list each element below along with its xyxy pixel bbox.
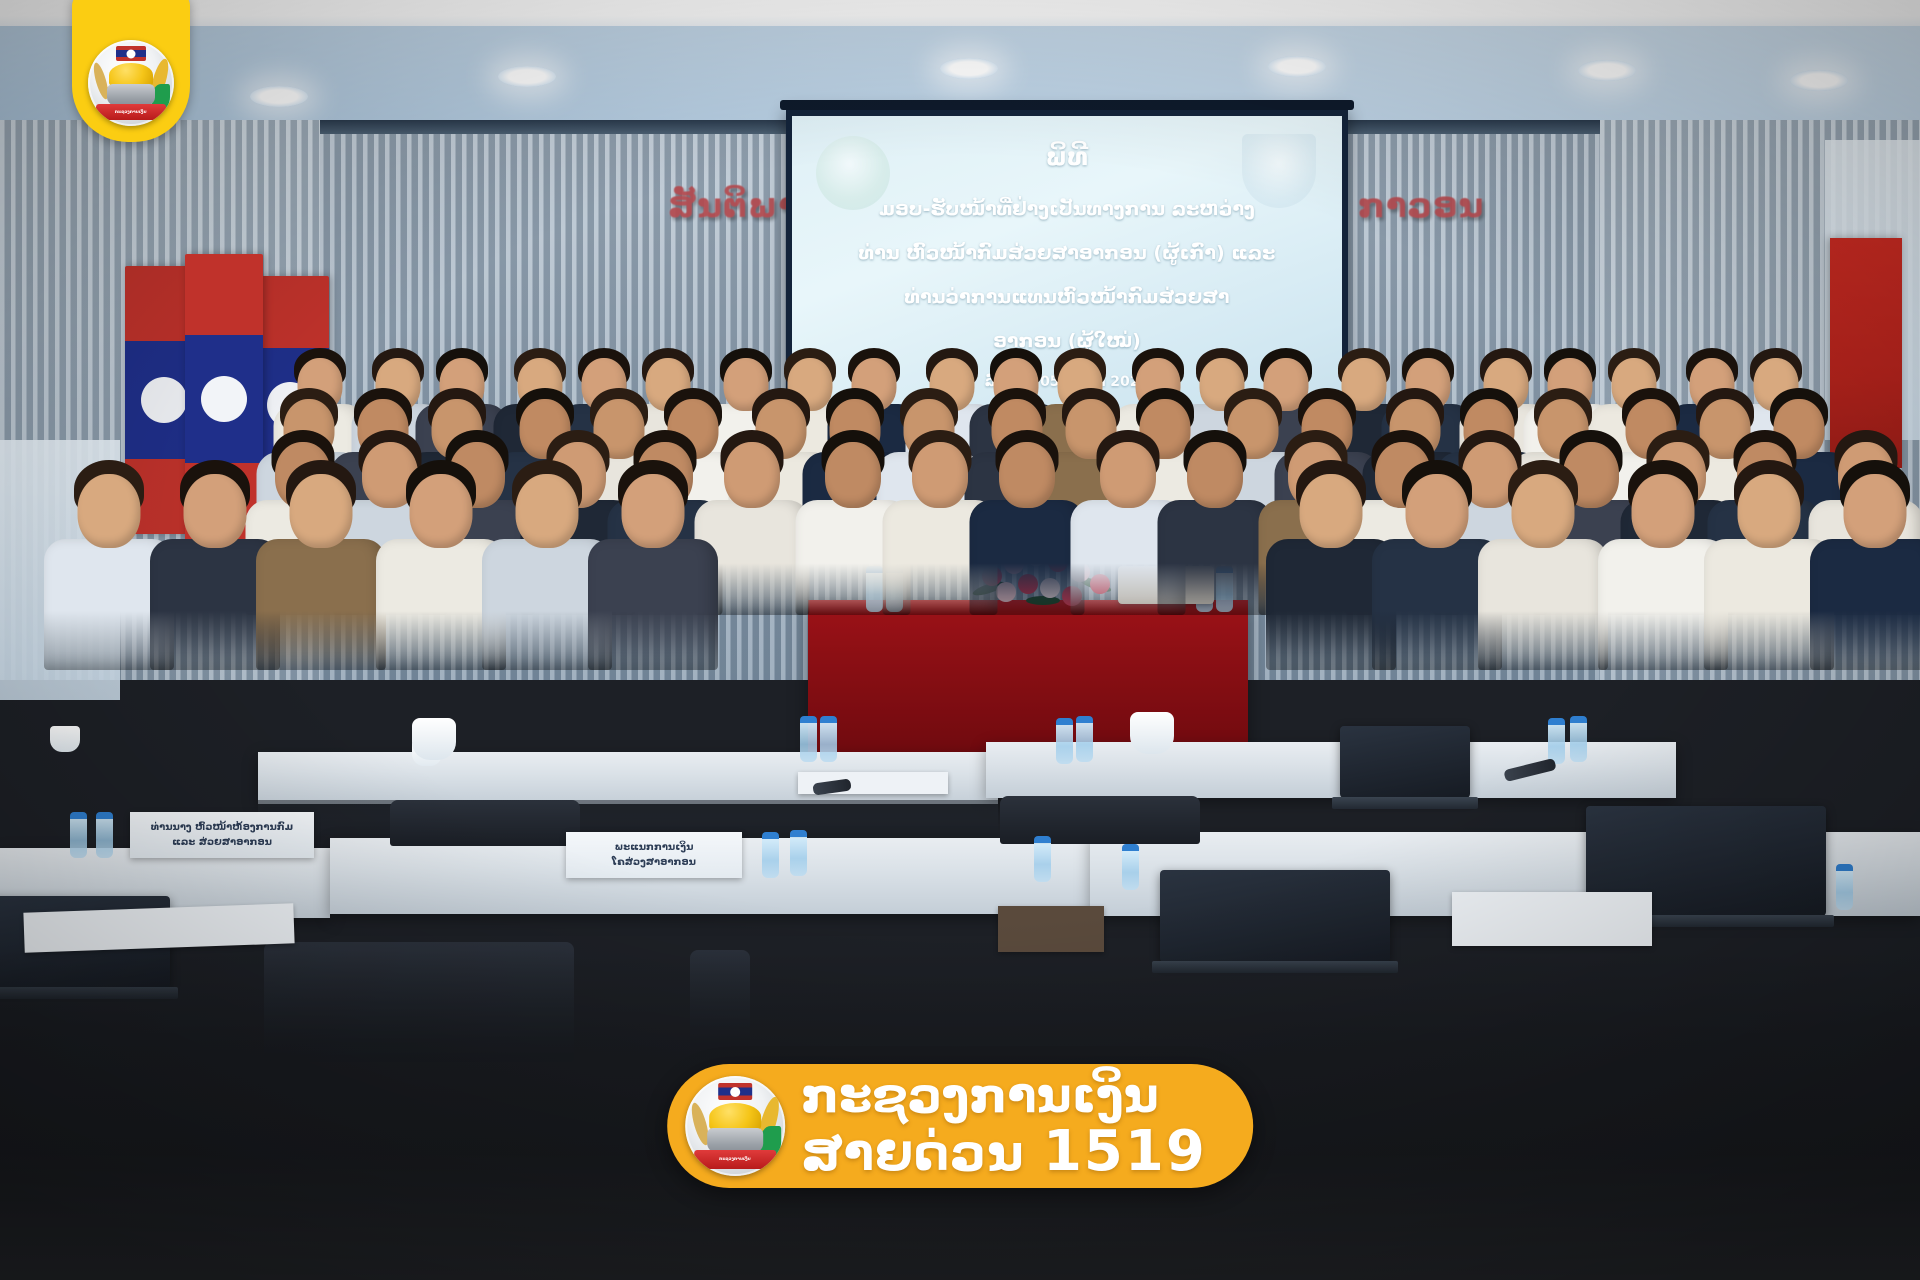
- attendee-head: [1512, 474, 1575, 548]
- office-chair: [1000, 796, 1200, 844]
- teapot: [1130, 712, 1174, 754]
- attendee: [1157, 430, 1272, 615]
- attendee-head: [1100, 442, 1156, 508]
- head-table-red-cloth: [808, 600, 1248, 758]
- table-name-card: ທ່ານນາງ ຫົວໜ້າຫ້ອງການກົມ ແລະ ສ່ວຍສາອາກອນ: [130, 812, 314, 858]
- slide-line-3: ທ່ານວ່າການແທນຫົວໜ້າກົມສ່ວຍສາ: [792, 286, 1342, 308]
- attendee-head: [1632, 474, 1695, 548]
- ceiling-downlight: [940, 58, 998, 79]
- attendee: [1810, 460, 1920, 670]
- ceiling-downlight: [498, 66, 556, 87]
- attendee-torso: [588, 539, 718, 670]
- table-name-card: ພະແນກການເງິນ ໂຄສ່ວງສາອາກອນ: [566, 832, 742, 878]
- water-bottle: [1548, 718, 1565, 764]
- laptop-device: [1160, 870, 1390, 962]
- water-bottle: [762, 832, 779, 878]
- ceiling-downlight: [1268, 56, 1326, 77]
- attendee-head: [825, 442, 881, 508]
- water-bottle: [790, 830, 807, 876]
- tea-cup: [50, 726, 80, 752]
- water-bottle: [1034, 836, 1051, 882]
- attendee: [1478, 460, 1608, 670]
- ceiling-downlight: [250, 86, 308, 107]
- slide-title: ພິທີ: [792, 142, 1342, 171]
- name-card-line-2: ແລະ ສ່ວຍສາອາກອນ: [172, 835, 272, 850]
- attendee-head: [622, 474, 685, 548]
- attendee-head: [724, 442, 780, 508]
- wall-text-right: ກາວອນ: [1358, 186, 1484, 226]
- water-bottle: [1076, 716, 1093, 762]
- office-chair: [390, 800, 580, 846]
- attendee-head: [912, 442, 968, 508]
- attendee-head: [78, 474, 141, 548]
- emblem-ribbon-text: ກະຊວງການເງິນ: [719, 1157, 751, 1161]
- attendee-head: [184, 474, 247, 548]
- banner-emblem-wrap: ກະຊວງການເງິນ: [685, 1076, 785, 1176]
- name-card-line-1: ພະແນກການເງິນ: [615, 840, 694, 855]
- ministry-of-finance-emblem-icon: ກະຊວງການເງິນ: [685, 1076, 785, 1176]
- ministry-of-finance-emblem-icon: ກະຊວງການເງິນ: [88, 40, 174, 126]
- graphic-canvas: ສັນຕິພາບ ກາວອນ ພິທີ ມອບ-ຮັບໜ້າທີ່ຢ່າງເປັ…: [0, 0, 1920, 1280]
- slide-line-1: ມອບ-ຮັບໜ້າທີ່ຢ່າງເປັນທາງການ ລະຫວ່າງ: [792, 198, 1342, 220]
- attendee-head: [1300, 474, 1363, 548]
- hotline-organization-label: ກະຊວງການເງິນ: [801, 1071, 1207, 1122]
- desk-front-panel: [258, 800, 998, 836]
- water-bottle: [800, 716, 817, 762]
- teapot: [412, 718, 456, 760]
- ceiling-downlight: [1578, 60, 1636, 81]
- attendee: [588, 460, 718, 670]
- water-bottle: [96, 812, 113, 858]
- attendee-torso: [1810, 539, 1920, 670]
- name-card-line-1: ທ່ານນາງ ຫົວໜ້າຫ້ອງການກົມ: [151, 820, 293, 835]
- attendee-head: [999, 442, 1055, 508]
- attendee-head: [410, 474, 473, 548]
- hotline-label: ສາຍດ່ວນ: [801, 1124, 1024, 1182]
- corner-ministry-badge: ກະຊວງການເງິນ: [72, 0, 190, 142]
- attendee-head: [1406, 474, 1469, 548]
- photo-top-white-strip: [0, 0, 1920, 26]
- attendee-torso: [969, 500, 1084, 615]
- attendee-head: [1844, 474, 1907, 548]
- water-bottle: [1122, 844, 1139, 890]
- hotline-text-block: ກະຊວງການເງິນ ສາຍດ່ວນ 1519: [801, 1071, 1207, 1181]
- office-chair: [264, 942, 574, 1062]
- slide-line-2: ທ່ານ ຫົວໜ້າກົມສ່ວຍສາອາກອນ (ຜູ້ເກົ່າ) ແລະ: [792, 242, 1342, 264]
- office-chair: [690, 950, 750, 1050]
- water-bottle: [820, 716, 837, 762]
- attendee-torso: [256, 539, 386, 670]
- attendee: [969, 430, 1084, 615]
- attendee-torso: [1478, 539, 1608, 670]
- notebook: [998, 906, 1104, 952]
- ceiling-downlight: [1790, 70, 1848, 91]
- laptop-device: [1340, 726, 1470, 798]
- attendee-head: [1738, 474, 1801, 548]
- document-sheet: [23, 903, 294, 952]
- hotline-number-row: ສາຍດ່ວນ 1519: [801, 1122, 1207, 1181]
- water-bottle: [1056, 718, 1073, 764]
- name-card-line-2: ໂຄສ່ວງສາອາກອນ: [612, 855, 696, 870]
- water-bottle: [70, 812, 87, 858]
- attendee-head: [516, 474, 579, 548]
- emblem-ribbon-text: ກະຊວງການເງິນ: [115, 110, 147, 114]
- attendee-head: [1187, 442, 1243, 508]
- attendee-head: [290, 474, 353, 548]
- attendee: [256, 460, 386, 670]
- document-sheet: [1452, 892, 1652, 946]
- hotline-banner[interactable]: ກະຊວງການເງິນ ກະຊວງການເງິນ ສາຍດ່ວນ 1519: [667, 1064, 1253, 1188]
- hotline-number[interactable]: 1519: [1043, 1119, 1207, 1184]
- water-bottle: [1570, 716, 1587, 762]
- attendee-torso: [1157, 500, 1272, 615]
- water-bottle: [1836, 864, 1853, 910]
